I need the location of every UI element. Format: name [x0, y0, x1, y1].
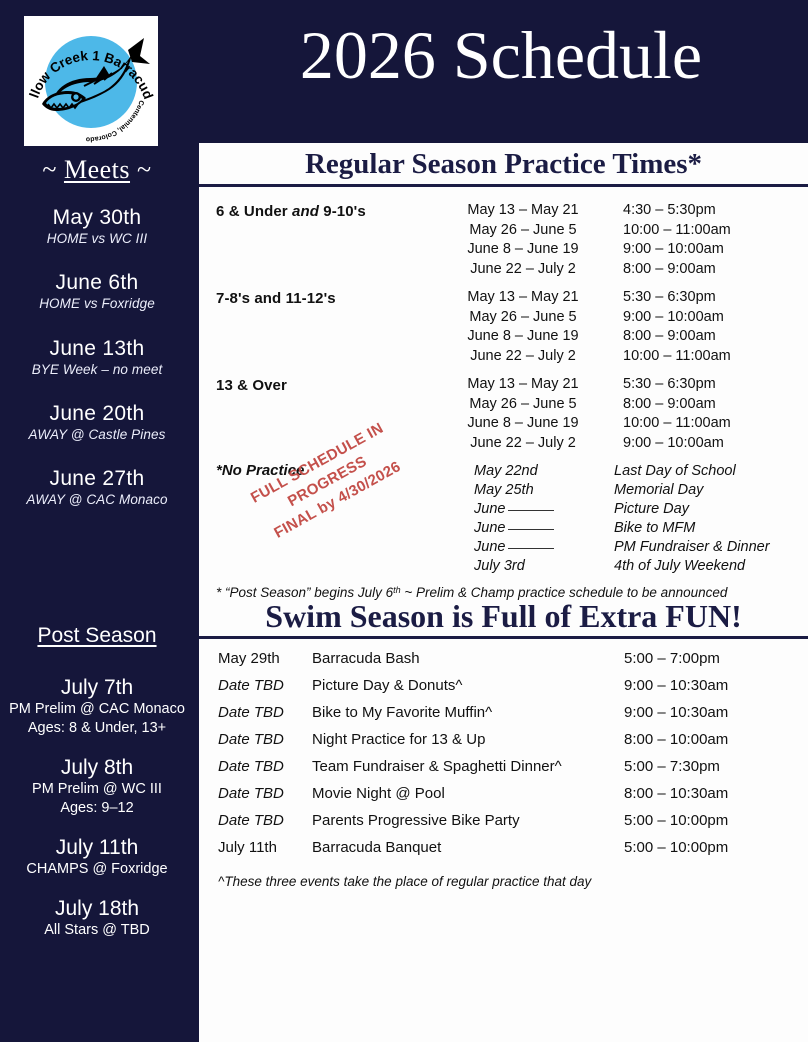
no-practice-reason: PM Fundraiser & Dinner: [614, 538, 770, 557]
post-season-list: July 7th PM Prelim @ CAC Monaco Ages: 8 …: [0, 676, 194, 958]
meet-date: June 6th: [0, 271, 194, 295]
no-practice-rows: May 22nd Last Day of School May 25th Mem…: [424, 462, 808, 576]
meet-date: June 13th: [0, 337, 194, 361]
event-date: July 11th: [199, 834, 312, 861]
masthead: 2026 Schedule: [194, 0, 808, 143]
fun-events-list: May 29th Barracuda Bash 5:00 – 7:00pm Da…: [199, 639, 808, 889]
no-practice-row: May 22nd Last Day of School: [424, 462, 808, 481]
meets-heading-prefix: ~: [42, 155, 64, 184]
content-panel: Regular Season Practice Times* 6 & Under…: [199, 143, 808, 1042]
no-practice-date: June: [424, 519, 614, 538]
post-season-date: July 8th: [0, 756, 194, 780]
practice-time: 9:00 – 10:00am: [623, 434, 808, 454]
event-date: Date TBD: [199, 753, 312, 780]
practice-group-rows: May 13 – May 21 4:30 – 5:30pm May 26 – J…: [423, 201, 808, 279]
meet-detail: HOME vs Foxridge: [0, 296, 194, 312]
event-date: Date TBD: [199, 672, 312, 699]
practice-time: 8:00 – 9:00am: [623, 327, 808, 347]
date-blank-line: [508, 529, 554, 530]
barracuda-logo-icon: Willow Creek 1 Barracudas Centennial, Co…: [24, 16, 158, 146]
event-name: Bike to My Favorite Muffin^: [312, 699, 624, 726]
practice-time: 10:00 – 11:00am: [623, 221, 808, 241]
practice-time: 9:00 – 10:00am: [623, 308, 808, 328]
practice-group: 6 & Under and 9-10's May 13 – May 21 4:3…: [199, 201, 808, 279]
practice-row: May 13 – May 21 5:30 – 6:30pm: [423, 375, 808, 395]
practice-row: May 26 – June 5 9:00 – 10:00am: [423, 308, 808, 328]
no-practice-date-text: June: [474, 501, 505, 517]
event-date: Date TBD: [199, 726, 312, 753]
post-season-item: July 11th CHAMPS @ Foxridge: [0, 836, 194, 879]
event-name: Barracuda Banquet: [312, 834, 624, 861]
events-footnote: ^These three events take the place of re…: [199, 861, 808, 889]
footnote-ordinal: th: [393, 585, 401, 595]
no-practice-reason: Bike to MFM: [614, 519, 695, 538]
practice-row: June 22 – July 2 10:00 – 11:00am: [423, 347, 808, 367]
event-row: Date TBD Movie Night @ Pool 8:00 – 10:30…: [199, 780, 808, 807]
fun-heading: Swim Season is Full of Extra FUN!: [199, 600, 808, 639]
practice-dates: June 8 – June 19: [423, 240, 623, 260]
practice-time: 9:00 – 10:00am: [623, 240, 808, 260]
event-row: July 11th Barracuda Banquet 5:00 – 10:00…: [199, 834, 808, 861]
practice-dates: May 26 – June 5: [423, 395, 623, 415]
event-row: Date TBD Parents Progressive Bike Party …: [199, 807, 808, 834]
practice-time: 10:00 – 11:00am: [623, 347, 808, 367]
practice-time: 5:30 – 6:30pm: [623, 288, 808, 308]
no-practice-reason: Picture Day: [614, 500, 689, 519]
practice-row: May 13 – May 21 5:30 – 6:30pm: [423, 288, 808, 308]
meet-item: June 20th AWAY @ Castle Pines: [0, 402, 194, 443]
practice-dates: June 8 – June 19: [423, 414, 623, 434]
meets-heading: ~ Meets ~: [0, 155, 194, 185]
event-time: 5:00 – 7:00pm: [624, 645, 720, 672]
practice-times-heading: Regular Season Practice Times*: [199, 143, 808, 187]
meet-detail: AWAY @ Castle Pines: [0, 427, 194, 443]
schedule-poster: Willow Creek 1 Barracudas Centennial, Co…: [0, 0, 808, 1042]
no-practice-date: July 3rd: [424, 557, 614, 576]
team-logo: Willow Creek 1 Barracudas Centennial, Co…: [24, 16, 158, 146]
practice-dates: June 22 – July 2: [423, 347, 623, 367]
no-practice-date-text: May 22nd: [474, 463, 538, 479]
practice-dates: May 13 – May 21: [423, 201, 623, 221]
event-name: Parents Progressive Bike Party: [312, 807, 624, 834]
practice-time: 8:00 – 9:00am: [623, 395, 808, 415]
post-season-line1: All Stars @ TBD: [0, 921, 194, 940]
practice-groups: 6 & Under and 9-10's May 13 – May 21 4:3…: [199, 187, 808, 600]
post-season-date: July 7th: [0, 676, 194, 700]
date-blank-line: [508, 548, 554, 549]
practice-row: June 8 – June 19 10:00 – 11:00am: [423, 414, 808, 434]
event-name: Team Fundraiser & Spaghetti Dinner^: [312, 753, 624, 780]
event-time: 9:00 – 10:30am: [624, 672, 728, 699]
post-season-heading: Post Season: [0, 624, 194, 648]
practice-row: May 13 – May 21 4:30 – 5:30pm: [423, 201, 808, 221]
no-practice-reason: 4th of July Weekend: [614, 557, 745, 576]
practice-group-label: 13 & Over: [199, 375, 423, 394]
no-practice-reason: Last Day of School: [614, 462, 736, 481]
practice-dates: June 22 – July 2: [423, 434, 623, 454]
group-label-main: 7-8's and 11-12's: [216, 290, 336, 307]
practice-row: June 8 – June 19 8:00 – 9:00am: [423, 327, 808, 347]
post-season-line2: Ages: 8 & Under, 13+: [0, 719, 194, 738]
post-season-date: July 11th: [0, 836, 194, 860]
meet-detail: BYE Week – no meet: [0, 362, 194, 378]
group-label-tail: 9-10's: [319, 203, 366, 220]
post-season-item: July 18th All Stars @ TBD: [0, 897, 194, 940]
post-season-item: July 7th PM Prelim @ CAC Monaco Ages: 8 …: [0, 676, 194, 738]
practice-row: May 26 – June 5 8:00 – 9:00am: [423, 395, 808, 415]
event-time: 5:00 – 7:30pm: [624, 753, 720, 780]
meet-item: May 30th HOME vs WC III: [0, 206, 194, 247]
practice-dates: June 22 – July 2: [423, 260, 623, 280]
practice-group: 13 & Over May 13 – May 21 5:30 – 6:30pm …: [199, 375, 808, 453]
no-practice-date: June: [424, 500, 614, 519]
meets-heading-suffix: ~: [130, 155, 152, 184]
post-season-line2: Ages: 9–12: [0, 799, 194, 818]
group-label-main: 13 & Over: [216, 377, 287, 394]
event-row: Date TBD Team Fundraiser & Spaghetti Din…: [199, 753, 808, 780]
practice-time: 8:00 – 9:00am: [623, 260, 808, 280]
practice-dates: May 26 – June 5: [423, 308, 623, 328]
post-season-line1: PM Prelim @ CAC Monaco: [0, 700, 194, 719]
practice-row: May 26 – June 5 10:00 – 11:00am: [423, 221, 808, 241]
practice-group: 7-8's and 11-12's May 13 – May 21 5:30 –…: [199, 288, 808, 366]
practice-dates: May 13 – May 21: [423, 288, 623, 308]
no-practice-row: May 25th Memorial Day: [424, 481, 808, 500]
event-row: Date TBD Picture Day & Donuts^ 9:00 – 10…: [199, 672, 808, 699]
post-season-line1: PM Prelim @ WC III: [0, 780, 194, 799]
event-row: May 29th Barracuda Bash 5:00 – 7:00pm: [199, 645, 808, 672]
group-label-main: 6 & Under: [216, 203, 292, 220]
meet-date: June 27th: [0, 467, 194, 491]
practice-group-rows: May 13 – May 21 5:30 – 6:30pm May 26 – J…: [423, 288, 808, 366]
no-practice-row: June PM Fundraiser & Dinner: [424, 538, 808, 557]
practice-row: June 22 – July 2 8:00 – 9:00am: [423, 260, 808, 280]
event-time: 5:00 – 10:00pm: [624, 834, 728, 861]
no-practice-date: May 22nd: [424, 462, 614, 481]
practice-group-label: 6 & Under and 9-10's: [199, 201, 423, 220]
post-season-date: July 18th: [0, 897, 194, 921]
no-practice-label: *No Practice: [199, 462, 424, 576]
practice-time: 5:30 – 6:30pm: [623, 375, 808, 395]
meets-heading-text: Meets: [64, 155, 130, 184]
practice-time: 10:00 – 11:00am: [623, 414, 808, 434]
no-practice-row: July 3rd 4th of July Weekend: [424, 557, 808, 576]
practice-dates: May 13 – May 21: [423, 375, 623, 395]
event-name: Barracuda Bash: [312, 645, 624, 672]
post-season-line1: CHAMPS @ Foxridge: [0, 860, 194, 879]
sidebar: Willow Creek 1 Barracudas Centennial, Co…: [0, 0, 194, 1042]
event-time: 5:00 – 10:00pm: [624, 807, 728, 834]
event-date: May 29th: [199, 645, 312, 672]
meet-item: June 6th HOME vs Foxridge: [0, 271, 194, 312]
event-name: Picture Day & Donuts^: [312, 672, 624, 699]
practice-dates: June 8 – June 19: [423, 327, 623, 347]
group-label-italic: and: [292, 203, 319, 220]
meets-list: May 30th HOME vs WC III June 6th HOME vs…: [0, 206, 194, 533]
meet-item: June 13th BYE Week – no meet: [0, 337, 194, 378]
practice-dates: May 26 – June 5: [423, 221, 623, 241]
event-date: Date TBD: [199, 699, 312, 726]
no-practice-row: June Bike to MFM: [424, 519, 808, 538]
event-row: Date TBD Night Practice for 13 & Up 8:00…: [199, 726, 808, 753]
date-blank-line: [508, 510, 554, 511]
practice-row: June 8 – June 19 9:00 – 10:00am: [423, 240, 808, 260]
practice-group-rows: May 13 – May 21 5:30 – 6:30pm May 26 – J…: [423, 375, 808, 453]
no-practice-date: May 25th: [424, 481, 614, 500]
event-time: 8:00 – 10:30am: [624, 780, 728, 807]
event-name: Night Practice for 13 & Up: [312, 726, 624, 753]
no-practice-date-text: July 3rd: [474, 558, 525, 574]
event-time: 8:00 – 10:00am: [624, 726, 728, 753]
post-season-footnote: * “Post Season” begins July 6th ~ Prelim…: [199, 576, 808, 600]
meet-item: June 27th AWAY @ CAC Monaco: [0, 467, 194, 508]
practice-time: 4:30 – 5:30pm: [623, 201, 808, 221]
no-practice-reason: Memorial Day: [614, 481, 703, 500]
no-practice-row: June Picture Day: [424, 500, 808, 519]
practice-row: June 22 – July 2 9:00 – 10:00am: [423, 434, 808, 454]
meet-detail: HOME vs WC III: [0, 231, 194, 247]
meet-date: June 20th: [0, 402, 194, 426]
no-practice-date-text: June: [474, 539, 505, 555]
practice-group-label: 7-8's and 11-12's: [199, 288, 423, 307]
post-season-item: July 8th PM Prelim @ WC III Ages: 9–12: [0, 756, 194, 818]
no-practice-date-text: June: [474, 520, 505, 536]
meet-detail: AWAY @ CAC Monaco: [0, 492, 194, 508]
page-title: 2026 Schedule: [194, 16, 808, 95]
no-practice-block: *No Practice May 22nd Last Day of School…: [199, 462, 808, 576]
no-practice-date-text: May 25th: [474, 482, 534, 498]
event-time: 9:00 – 10:30am: [624, 699, 728, 726]
event-date: Date TBD: [199, 807, 312, 834]
no-practice-date: June: [424, 538, 614, 557]
event-name: Movie Night @ Pool: [312, 780, 624, 807]
event-row: Date TBD Bike to My Favorite Muffin^ 9:0…: [199, 699, 808, 726]
event-date: Date TBD: [199, 780, 312, 807]
meet-date: May 30th: [0, 206, 194, 230]
